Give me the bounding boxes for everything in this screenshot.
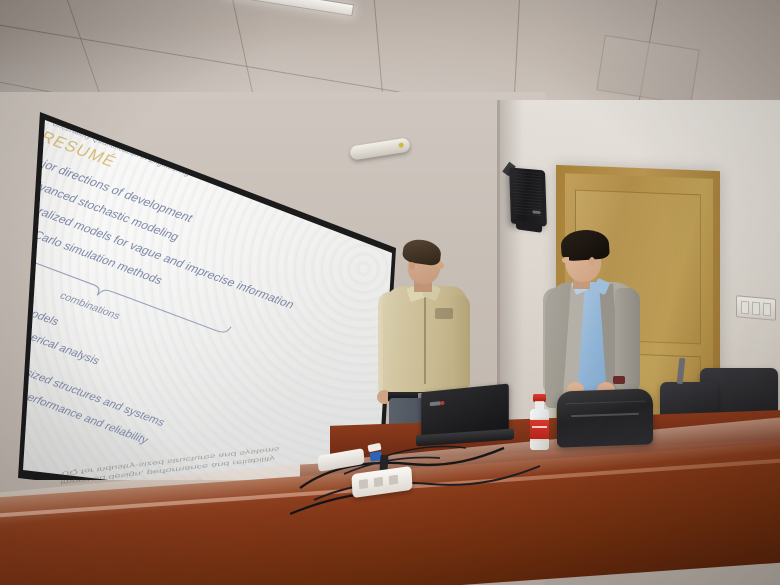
presenter-right-arm: [450, 294, 470, 390]
wall-corner-shadow: [497, 100, 523, 430]
bottle-label: [530, 420, 549, 439]
backpack[interactable]: [557, 388, 653, 447]
laptop[interactable]: [420, 388, 516, 446]
light-switch-plate[interactable]: [736, 295, 776, 320]
water-bottle[interactable]: [530, 394, 549, 450]
attendee-watch-icon: [613, 376, 625, 384]
speaker-icon: [509, 167, 547, 226]
laptop-logo-icon: [440, 401, 444, 405]
conference-room-photo: Uncertainty Quantification in Engineerin…: [0, 0, 780, 585]
presenter-shirt-pocket: [435, 308, 453, 319]
